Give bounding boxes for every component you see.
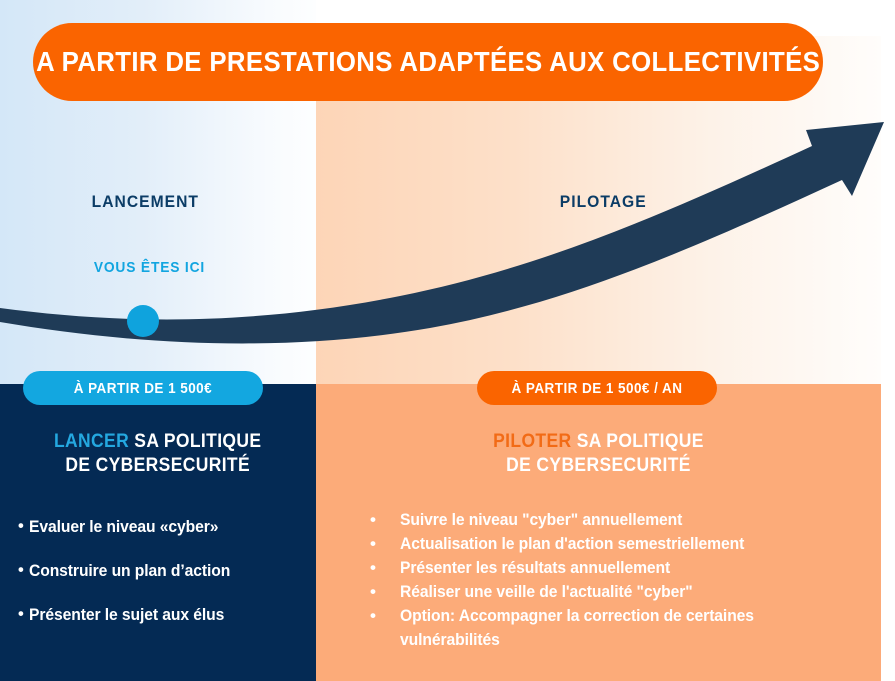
bullet-dot-icon: • xyxy=(370,604,400,628)
page-title: A PARTIR DE PRESTATIONS ADAPTÉES AUX COL… xyxy=(36,46,820,78)
list-item: • Evaluer le niveau «cyber» xyxy=(18,518,308,537)
list-item-label: Evaluer le niveau «cyber» xyxy=(29,518,218,537)
heading-piloter-rest: SA POLITIQUE xyxy=(571,431,703,452)
list-item: • Suivre le niveau "cyber" annuellement xyxy=(370,508,870,532)
phase-label-lancement: LANCEMENT xyxy=(92,192,199,212)
bullet-list-pilotage: • Suivre le niveau "cyber" annuellement … xyxy=(370,508,870,652)
heading-lancer-accent: LANCER xyxy=(54,431,129,452)
heading-piloter: PILOTER SA POLITIQUE DE CYBERSECURITÉ xyxy=(316,430,881,478)
heading-lancer-line2: DE CYBERSECURITÉ xyxy=(66,455,251,476)
list-item-label: Présenter les résultats annuellement xyxy=(400,556,670,580)
heading-piloter-accent: PILOTER xyxy=(493,431,571,452)
list-item: • Option: Accompagner la correction de c… xyxy=(370,604,870,652)
heading-lancer: LANCER SA POLITIQUE DE CYBERSECURITÉ xyxy=(0,430,316,478)
heading-piloter-line2: DE CYBERSECURITÉ xyxy=(506,455,691,476)
bullet-dot-icon: • xyxy=(370,532,400,556)
list-item: • Actualisation le plan d'action semestr… xyxy=(370,532,870,556)
price-badge-pilotage-label: À PARTIR DE 1 500€ / AN xyxy=(512,380,683,397)
list-item-label: Réaliser une veille de l'actualité "cybe… xyxy=(400,580,693,604)
bullet-list-lancement: • Evaluer le niveau «cyber» • Construire… xyxy=(18,518,308,650)
title-banner: A PARTIR DE PRESTATIONS ADAPTÉES AUX COL… xyxy=(33,23,823,101)
list-item: • Construire un plan d’action xyxy=(18,562,308,581)
bullet-dot-icon: • xyxy=(18,606,24,623)
list-item-label: Option: Accompagner la correction de cer… xyxy=(400,604,847,652)
infographic-canvas: A PARTIR DE PRESTATIONS ADAPTÉES AUX COL… xyxy=(0,0,895,681)
phase-label-pilotage: PILOTAGE xyxy=(560,192,647,212)
list-item: • Réaliser une veille de l'actualité "cy… xyxy=(370,580,870,604)
list-item-label: Présenter le sujet aux élus xyxy=(29,606,224,625)
list-item: • Présenter les résultats annuellement xyxy=(370,556,870,580)
price-badge-lancement: À PARTIR DE 1 500€ xyxy=(23,371,263,405)
price-badge-lancement-label: À PARTIR DE 1 500€ xyxy=(74,380,212,397)
bullet-dot-icon: • xyxy=(370,580,400,604)
you-are-here-label: VOUS ÊTES ICI xyxy=(94,259,205,276)
bullet-dot-icon: • xyxy=(18,518,24,535)
current-position-dot-icon xyxy=(127,305,159,337)
list-item: • Présenter le sujet aux élus xyxy=(18,606,308,625)
list-item-label: Suivre le niveau "cyber" annuellement xyxy=(400,508,682,532)
list-item-label: Construire un plan d’action xyxy=(29,562,230,581)
price-badge-pilotage: À PARTIR DE 1 500€ / AN xyxy=(477,371,717,405)
list-item-label: Actualisation le plan d'action semestrie… xyxy=(400,532,744,556)
bullet-dot-icon: • xyxy=(370,508,400,532)
bullet-dot-icon: • xyxy=(370,556,400,580)
bullet-dot-icon: • xyxy=(18,562,24,579)
heading-lancer-rest: SA POLITIQUE xyxy=(129,431,261,452)
